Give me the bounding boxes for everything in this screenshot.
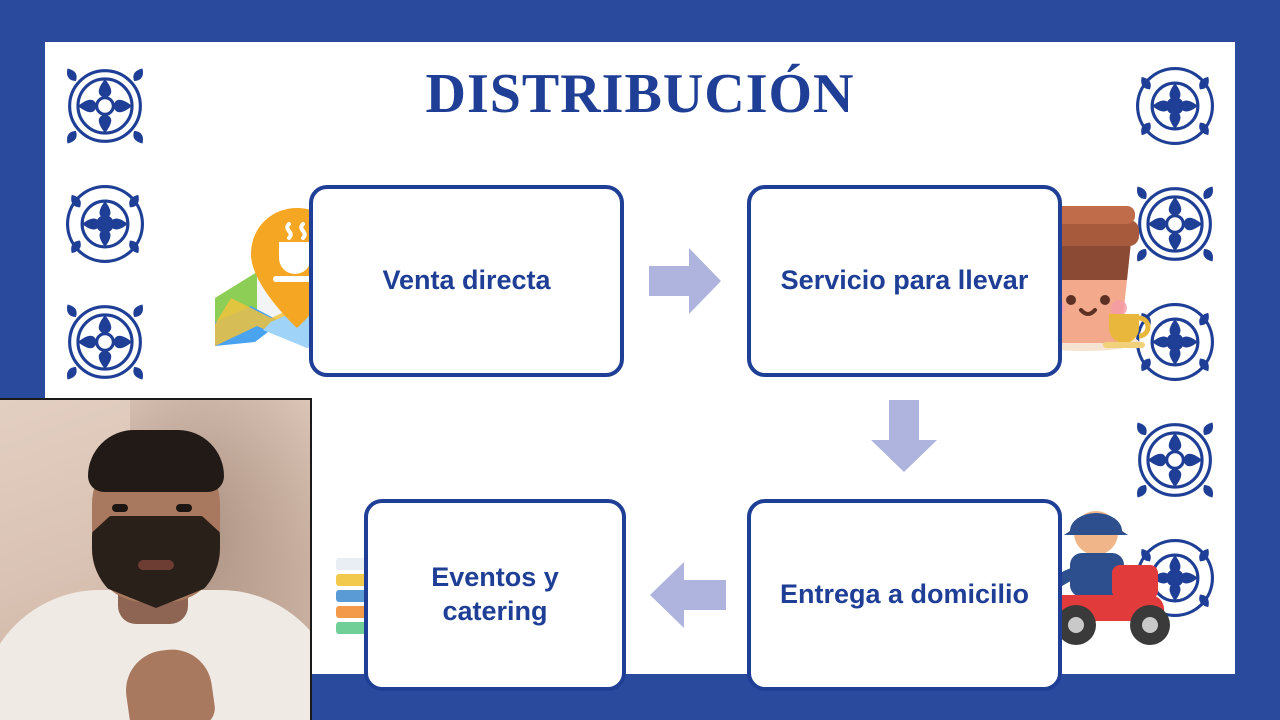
presenter-left-eye [112,504,128,512]
presentation-screen: DISTRIBUCIÓN [0,0,1280,720]
arrow-entrega-to-eventos [646,560,726,630]
arrow-llevar-to-entrega [869,400,939,474]
node-venta-directa[interactable]: Venta directa [309,185,624,377]
node-eventos-catering[interactable]: Eventos y catering [364,499,626,691]
talavera-tile-icon [53,290,157,394]
slide-title: DISTRIBUCIÓN [45,62,1235,126]
arrow-venta-to-llevar [649,246,723,316]
presenter-right-eye [176,504,192,512]
talavera-tile-icon [53,172,157,276]
node-entrega-domicilio-label: Entrega a domicilio [780,578,1029,612]
node-venta-directa-label: Venta directa [382,264,550,298]
presenter-webcam[interactable] [0,398,312,720]
node-servicio-llevar[interactable]: Servicio para llevar [747,185,1062,377]
node-eventos-catering-label: Eventos y catering [382,561,608,629]
node-servicio-llevar-label: Servicio para llevar [781,264,1029,298]
presenter-mouth [138,560,174,570]
node-entrega-domicilio[interactable]: Entrega a domicilio [747,499,1062,691]
presenter-hair [88,430,224,492]
